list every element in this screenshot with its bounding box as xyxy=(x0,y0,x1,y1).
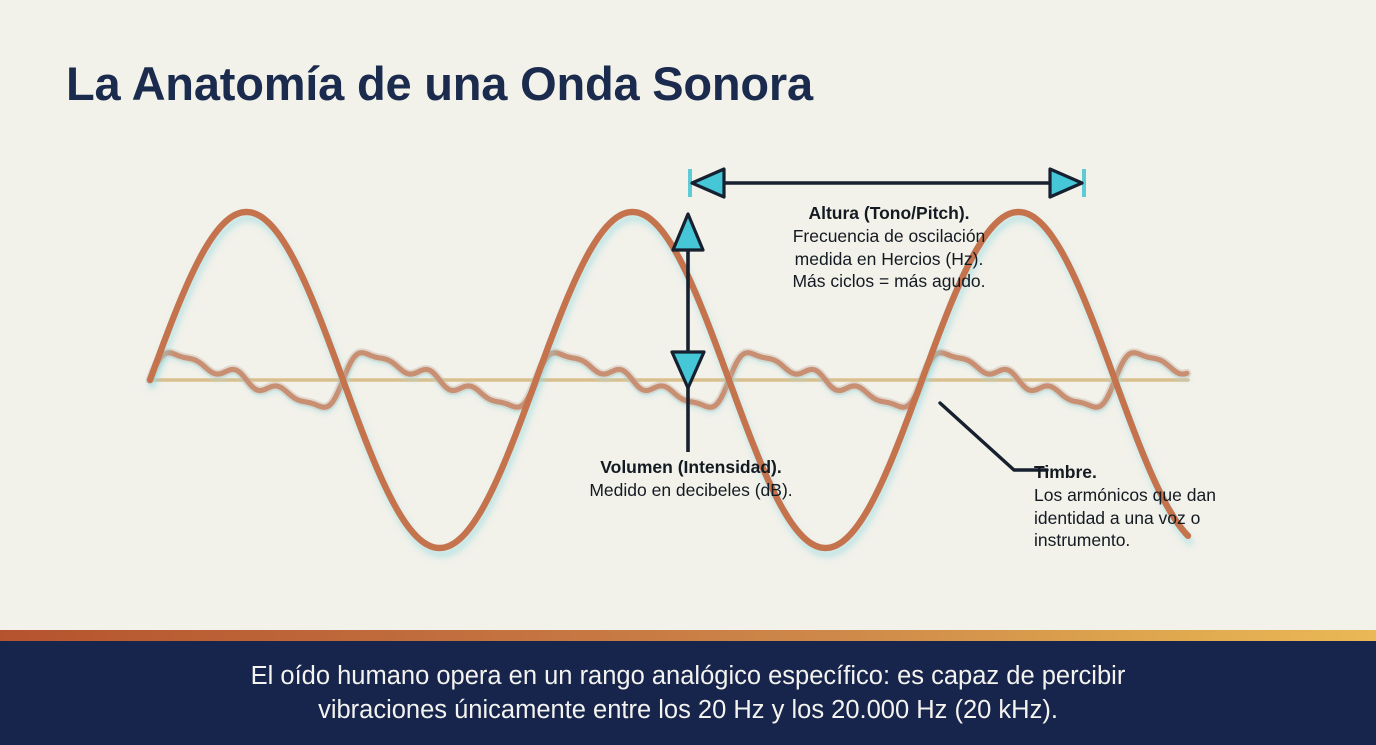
annotation-timbre: Timbre. Los armónicos que dan identidad … xyxy=(1034,461,1274,552)
infographic-root: La Anatomía de una Onda Sonora xyxy=(0,0,1376,745)
banner-line-2: vibraciones únicamente entre los 20 Hz y… xyxy=(163,693,1213,727)
annotation-timbre-heading: Timbre. xyxy=(1034,461,1274,484)
annotation-timbre-line-2: identidad a una voz o xyxy=(1034,507,1274,530)
bottom-banner: El oído humano opera en un rango analógi… xyxy=(0,641,1376,745)
banner-text: El oído humano opera en un rango analógi… xyxy=(163,659,1213,728)
annotation-altura-line-1: Frecuencia de oscilación xyxy=(775,225,1003,248)
annotation-volumen: Volumen (Intensidad). Medido en decibele… xyxy=(566,456,816,502)
amplitude-arrowhead-up xyxy=(673,214,703,250)
timbre-leader-line xyxy=(940,403,1047,470)
annotation-volumen-heading: Volumen (Intensidad). xyxy=(566,456,816,479)
annotation-timbre-line-1: Los armónicos que dan xyxy=(1034,484,1274,507)
annotation-altura-heading: Altura (Tono/Pitch). xyxy=(775,202,1003,225)
wavelength-arrowhead-left xyxy=(692,169,724,197)
amplitude-arrowhead-down xyxy=(672,352,704,388)
wavelength-arrowhead-right xyxy=(1050,169,1082,197)
annotation-volumen-line-1: Medido en decibeles (dB). xyxy=(566,479,816,502)
annotation-altura-line-3: Más ciclos = más agudo. xyxy=(775,270,1003,293)
annotation-altura-line-2: medida en Hercios (Hz). xyxy=(775,248,1003,271)
annotation-timbre-line-3: instrumento. xyxy=(1034,529,1274,552)
banner-line-1: El oído humano opera en un rango analógi… xyxy=(163,659,1213,693)
annotation-altura: Altura (Tono/Pitch). Frecuencia de oscil… xyxy=(775,202,1003,293)
accent-divider-band xyxy=(0,630,1376,641)
amplitude-measure-arrow xyxy=(672,214,704,452)
wavelength-measure-arrow xyxy=(690,169,1084,197)
